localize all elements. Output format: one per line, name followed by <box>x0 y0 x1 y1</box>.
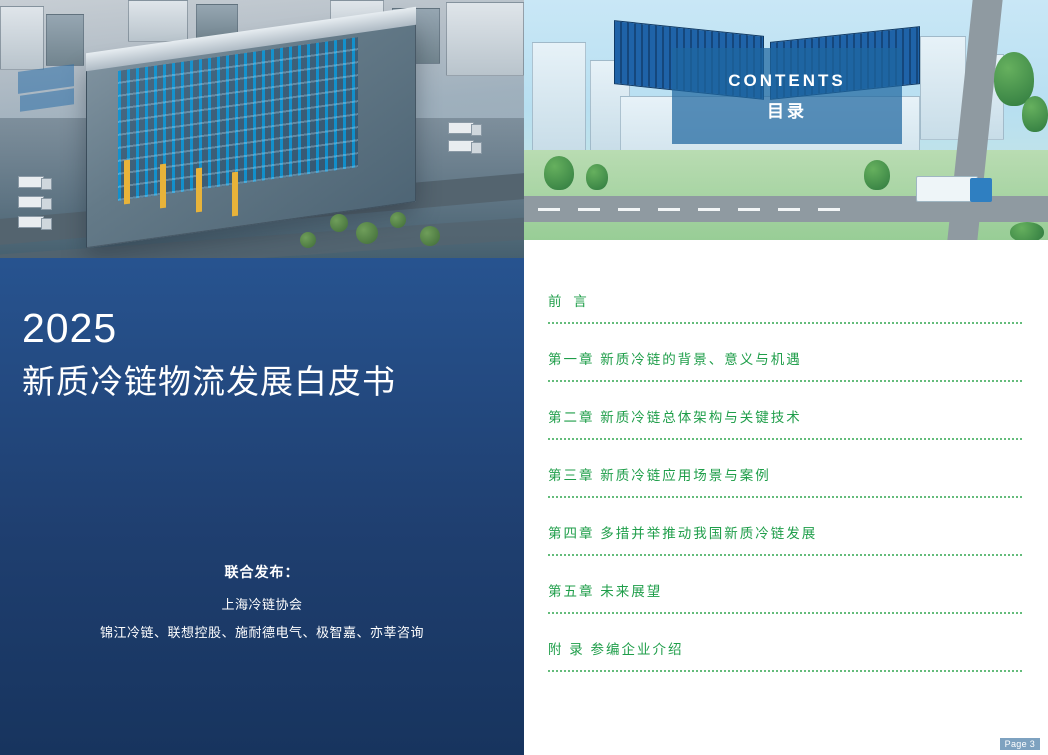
publisher-label: 联合发布： <box>0 562 524 582</box>
illustration-road-marking <box>818 208 840 211</box>
toc-link-preface[interactable]: 前 言 <box>548 290 1022 322</box>
illustration-road-marking <box>778 208 800 211</box>
photo-truck <box>18 216 44 228</box>
illustration-tree <box>544 156 574 190</box>
contents-title-card: CONTENTS 目录 <box>672 48 902 144</box>
toc-link-chapter-3[interactable]: 第三章 新质冷链应用场景与案例 <box>548 464 1022 496</box>
toc-dot-leader <box>548 612 1022 614</box>
contents-title-en: CONTENTS <box>728 71 846 91</box>
photo-building <box>446 2 524 76</box>
toc-item[interactable]: 第四章 多措并举推动我国新质冷链发展 <box>548 522 1022 556</box>
cover-footer: 联合发布： 上海冷链协会 锦江冷链、联想控股、施耐德电气、极智嘉、亦莘咨询 <box>0 562 524 641</box>
illustration-building <box>532 42 586 152</box>
photo-column <box>124 160 130 205</box>
illustration-road-marking <box>698 208 720 211</box>
illustration-tree <box>1010 222 1044 240</box>
toc-dot-leader <box>548 322 1022 324</box>
contents-photo: CONTENTS 目录 <box>524 0 1048 240</box>
toc-item[interactable]: 附 录 参编企业介绍 <box>548 638 1022 672</box>
photo-tree <box>356 222 378 244</box>
illustration-truck-trailer <box>916 176 978 202</box>
toc-item[interactable]: 第二章 新质冷链总体架构与关键技术 <box>548 406 1022 440</box>
toc-dot-leader <box>548 380 1022 382</box>
cover-text-block: 2025 新质冷链物流发展白皮书 <box>0 258 524 755</box>
table-of-contents: 前 言 第一章 新质冷链的背景、意义与机遇 第二章 新质冷链总体架构与关键技术 … <box>524 240 1048 755</box>
toc-dot-leader <box>548 496 1022 498</box>
slide-page: 2025 新质冷链物流发展白皮书 联合发布： 上海冷链协会 锦江冷链、联想控股、… <box>0 0 1048 755</box>
cover-year: 2025 <box>22 306 488 351</box>
toc-link-appendix[interactable]: 附 录 参编企业介绍 <box>548 638 1022 670</box>
photo-building <box>128 0 188 42</box>
cover-photo <box>0 0 524 258</box>
photo-truck <box>448 122 474 134</box>
publisher-organization: 上海冷链协会 <box>0 594 524 613</box>
illustration-tree <box>1022 96 1048 132</box>
toc-link-chapter-4[interactable]: 第四章 多措并举推动我国新质冷链发展 <box>548 522 1022 554</box>
illustration-road-marking <box>538 208 560 211</box>
photo-truck <box>448 140 474 152</box>
photo-tree <box>300 232 316 248</box>
contents-title-cn: 目录 <box>767 97 807 122</box>
toc-item[interactable]: 第三章 新质冷链应用场景与案例 <box>548 464 1022 498</box>
cover-panel: 2025 新质冷链物流发展白皮书 联合发布： 上海冷链协会 锦江冷链、联想控股、… <box>0 0 524 755</box>
contents-panel: CONTENTS 目录 前 言 第一章 新质冷链的背景、意义与机遇 第二章 新质… <box>524 0 1048 755</box>
page-number: Page 3 <box>1000 738 1040 750</box>
photo-tree <box>330 214 348 232</box>
illustration-road-marking <box>578 208 600 211</box>
toc-dot-leader <box>548 438 1022 440</box>
illustration-road-marking <box>658 208 680 211</box>
photo-column <box>232 172 238 217</box>
illustration-road-marking <box>618 208 640 211</box>
illustration-road-marking <box>738 208 760 211</box>
photo-truck <box>18 176 44 188</box>
toc-item[interactable]: 前 言 <box>548 290 1022 324</box>
toc-dot-leader <box>548 554 1022 556</box>
illustration-tree <box>586 164 608 190</box>
photo-column <box>196 168 202 213</box>
photo-column <box>160 164 166 209</box>
toc-item[interactable]: 第五章 未来展望 <box>548 580 1022 614</box>
toc-item[interactable]: 第一章 新质冷链的背景、意义与机遇 <box>548 348 1022 382</box>
illustration-tree <box>864 160 890 190</box>
cover-title: 新质冷链物流发展白皮书 <box>22 361 488 402</box>
toc-link-chapter-1[interactable]: 第一章 新质冷链的背景、意义与机遇 <box>548 348 1022 380</box>
publisher-partners: 锦江冷链、联想控股、施耐德电气、极智嘉、亦莘咨询 <box>0 622 524 641</box>
photo-tree <box>420 226 440 246</box>
toc-link-chapter-2[interactable]: 第二章 新质冷链总体架构与关键技术 <box>548 406 1022 438</box>
toc-dot-leader <box>548 670 1022 672</box>
toc-link-chapter-5[interactable]: 第五章 未来展望 <box>548 580 1022 612</box>
illustration-truck-cab <box>970 178 992 202</box>
photo-building <box>46 14 84 66</box>
photo-tree <box>390 212 406 228</box>
photo-building <box>0 6 44 70</box>
photo-truck <box>18 196 44 208</box>
